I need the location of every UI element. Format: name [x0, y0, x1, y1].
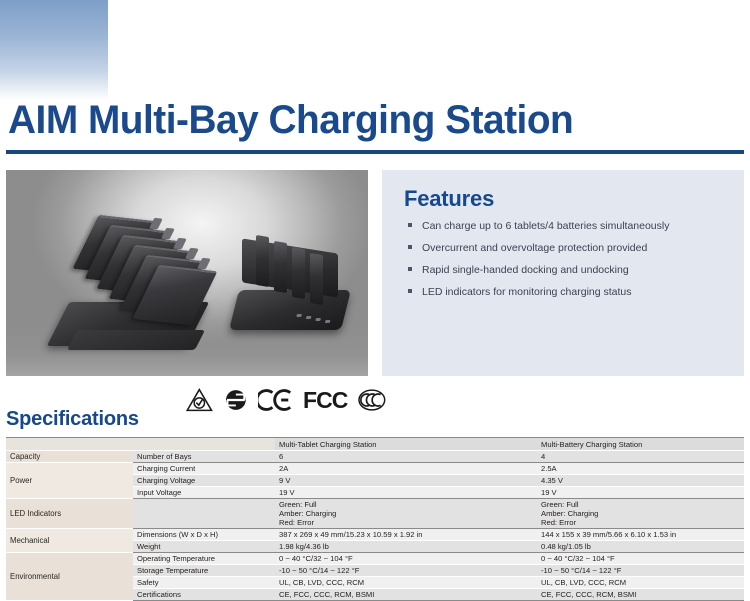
- bullet-icon: [408, 223, 412, 227]
- row-label: Storage Temperature: [133, 565, 275, 577]
- led-line: Green: Full: [541, 500, 740, 509]
- bullet-icon: [408, 289, 412, 293]
- feature-text: Overcurrent and overvoltage protection p…: [422, 242, 647, 254]
- features-panel: Features Can charge up to 6 tablets/4 ba…: [382, 170, 744, 376]
- row-value-battery: 2.5A: [537, 463, 744, 475]
- product-photo: [6, 170, 368, 376]
- battery-bay-fin: [256, 235, 269, 287]
- led-line: Red: Error: [279, 518, 533, 527]
- row-value-battery: 0 ~ 40 °C/32 ~ 104 °F: [537, 553, 744, 565]
- group-label-power: Power: [6, 463, 133, 499]
- table-row: Environmental Operating Temperature 0 ~ …: [6, 553, 744, 565]
- ce-icon: [258, 388, 292, 412]
- bullet-icon: [408, 245, 412, 249]
- row-value-tablet: 0 ~ 40 °C/32 ~ 104 °F: [275, 553, 537, 565]
- feature-item: Can charge up to 6 tablets/4 batteries s…: [408, 220, 744, 242]
- row-value-battery: 4.35 V: [537, 475, 744, 487]
- led-indicator: [315, 318, 321, 321]
- led-line: Green: Full: [279, 500, 533, 509]
- row-label: Number of Bays: [133, 451, 275, 463]
- row-value-tablet: -10 ~ 50 °C/14 ~ 122 °F: [275, 565, 537, 577]
- table-header-row: Multi-Tablet Charging Station Multi-Batt…: [6, 438, 744, 451]
- bsmi-icon: [224, 388, 248, 412]
- row-label: Weight: [133, 541, 275, 553]
- row-value-tablet: 9 V: [275, 475, 537, 487]
- led-indicator: [306, 316, 312, 319]
- row-value-tablet: UL, CB, LVD, CCC, RCM: [275, 577, 537, 589]
- battery-bay-fin: [292, 247, 305, 299]
- feature-item: LED indicators for monitoring charging s…: [408, 286, 744, 308]
- led-line: Red: Error: [541, 518, 740, 527]
- specifications-table: Multi-Tablet Charging Station Multi-Batt…: [6, 437, 744, 601]
- page-title: AIM Multi-Bay Charging Station: [8, 98, 573, 142]
- fcc-icon: FCC: [303, 389, 347, 412]
- feature-text: LED indicators for monitoring charging s…: [422, 286, 632, 298]
- group-label-environmental: Environmental: [6, 553, 133, 601]
- row-value-battery: -10 ~ 50 °C/14 ~ 122 °F: [537, 565, 744, 577]
- multi-battery-station-image: [234, 226, 350, 336]
- row-label: Certifications: [133, 589, 275, 601]
- feature-text: Rapid single-handed docking and undockin…: [422, 264, 629, 276]
- group-label-mechanical: Mechanical: [6, 529, 133, 553]
- feature-text: Can charge up to 6 tablets/4 batteries s…: [422, 220, 669, 232]
- row-label: Safety: [133, 577, 275, 589]
- table-row: Power Charging Current 2A 2.5A: [6, 463, 744, 475]
- row-value-battery: 144 x 155 x 39 mm/5.66 x 6.10 x 1.53 in: [537, 529, 744, 541]
- row-value-tablet: 2A: [275, 463, 537, 475]
- led-line: Amber: Charging: [541, 509, 740, 518]
- header-cell-multi-tablet: Multi-Tablet Charging Station: [275, 438, 537, 451]
- led-line: Amber: Charging: [279, 509, 533, 518]
- row-label: [133, 499, 275, 529]
- battery-bay-fin: [310, 253, 323, 305]
- group-label-led-indicators: LED Indicators: [6, 499, 133, 529]
- ccc-icon: [358, 389, 386, 411]
- battery-bay-fin: [274, 241, 287, 293]
- row-value-battery: Green: Full Amber: Charging Red: Error: [537, 499, 744, 529]
- row-value-tablet: Green: Full Amber: Charging Red: Error: [275, 499, 537, 529]
- group-label-capacity: Capacity: [6, 451, 133, 463]
- row-value-tablet: 1.98 kg/4.36 lb: [275, 541, 537, 553]
- row-label: Charging Voltage: [133, 475, 275, 487]
- row-label: Charging Current: [133, 463, 275, 475]
- specifications-heading: Specifications: [6, 408, 139, 431]
- header-cell-blank2: [133, 438, 275, 451]
- row-label: Operating Temperature: [133, 553, 275, 565]
- feature-item: Rapid single-handed docking and undockin…: [408, 264, 744, 286]
- row-value-battery: 4: [537, 451, 744, 463]
- row-value-tablet: CE, FCC, CCC, RCM, BSMI: [275, 589, 537, 601]
- row-value-battery: 0.48 kg/1.05 lb: [537, 541, 744, 553]
- header-accent-block: [0, 0, 108, 100]
- row-value-tablet: 6: [275, 451, 537, 463]
- certification-logos: FCC: [186, 386, 386, 414]
- table-row: LED Indicators Green: Full Amber: Chargi…: [6, 499, 744, 529]
- led-indicator: [296, 314, 302, 317]
- row-value-tablet: 19 V: [275, 487, 537, 499]
- title-divider: [6, 150, 744, 154]
- row-label: Input Voltage: [133, 487, 275, 499]
- rcm-icon: [186, 388, 213, 412]
- tablet-station-base-front: [67, 330, 205, 350]
- features-heading: Features: [382, 170, 744, 212]
- features-list: Can charge up to 6 tablets/4 batteries s…: [382, 212, 744, 308]
- bullet-icon: [408, 267, 412, 271]
- row-value-tablet: 387 x 269 x 49 mm/15.23 x 10.59 x 1.92 i…: [275, 529, 537, 541]
- row-value-battery: UL, CB, LVD, CCC, RCM: [537, 577, 744, 589]
- led-indicator: [325, 320, 331, 323]
- row-value-battery: CE, FCC, CCC, RCM, BSMI: [537, 589, 744, 601]
- row-label: Dimensions (W x D x H): [133, 529, 275, 541]
- feature-item: Overcurrent and overvoltage protection p…: [408, 242, 744, 264]
- table-row: Capacity Number of Bays 6 4: [6, 451, 744, 463]
- row-value-battery: 19 V: [537, 487, 744, 499]
- table-row: Mechanical Dimensions (W x D x H) 387 x …: [6, 529, 744, 541]
- header-cell-blank1: [6, 438, 133, 451]
- header-cell-multi-battery: Multi-Battery Charging Station: [537, 438, 744, 451]
- multi-tablet-station-image: [58, 210, 210, 350]
